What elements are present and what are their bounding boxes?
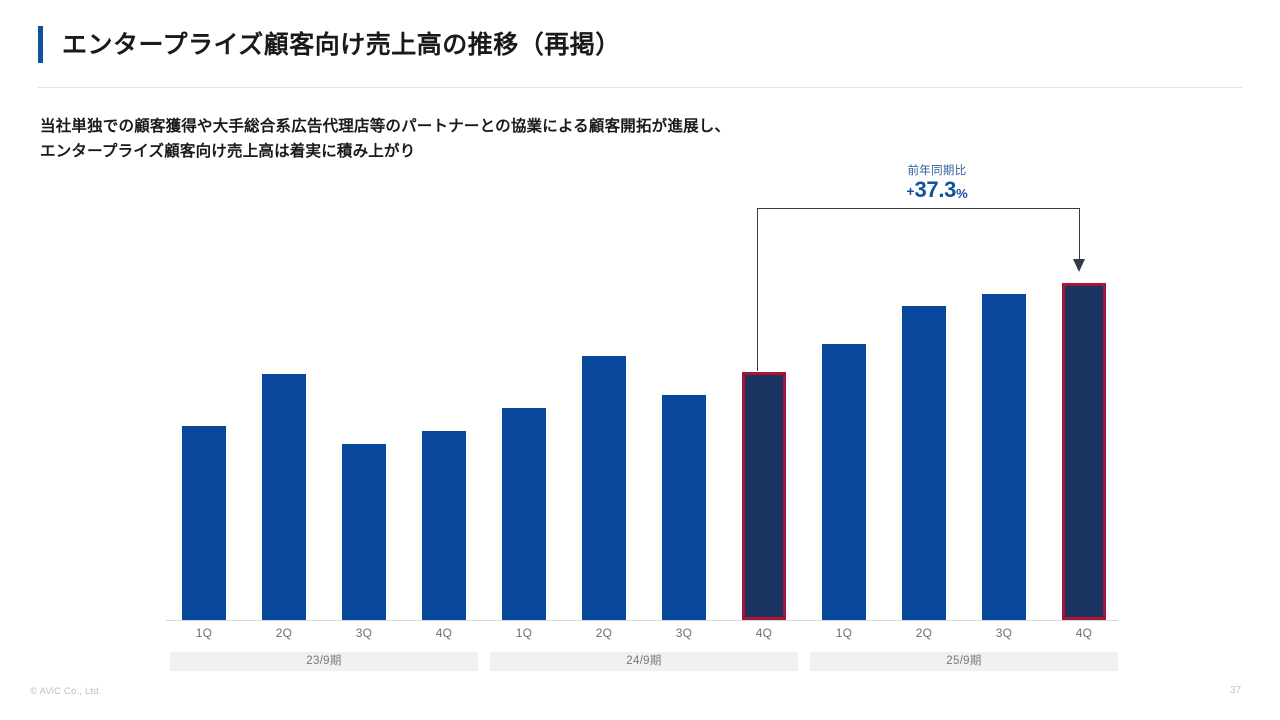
footer-page-number: 37 xyxy=(1230,685,1254,696)
chart-tick-label: 4Q xyxy=(734,626,794,640)
chart-bar xyxy=(582,356,626,620)
chart-bar xyxy=(982,294,1026,620)
chart-tick-label: 2Q xyxy=(574,626,634,640)
chart-baseline-axis xyxy=(166,620,1118,621)
yoy-callout-value: +37.3% xyxy=(862,179,1012,205)
chart-bar xyxy=(502,408,546,620)
connector-right-stem xyxy=(1079,208,1080,261)
chart-bar xyxy=(182,426,226,620)
chart-bar-highlighted xyxy=(742,372,786,620)
footer-copyright: © AViC Co., Ltd. xyxy=(30,686,102,697)
chart-tick-label: 1Q xyxy=(174,626,234,640)
connector-arrowhead-icon xyxy=(1073,259,1085,272)
yoy-callout-unit: % xyxy=(956,186,968,201)
chart-bar xyxy=(342,444,386,620)
chart-tick-label: 2Q xyxy=(254,626,314,640)
chart-tick-label: 3Q xyxy=(654,626,714,640)
chart-tick-label: 1Q xyxy=(494,626,554,640)
chart-tick-label: 3Q xyxy=(974,626,1034,640)
chart-period-band: 24/9期 xyxy=(490,652,798,671)
bar-chart: 1Q2Q3Q4Q1Q2Q3Q4Q1Q2Q3Q4Q 23/9期24/9期25/9期 xyxy=(0,0,1280,720)
yoy-growth-callout: 前年同期比 +37.3% xyxy=(862,164,1012,205)
chart-bar xyxy=(822,344,866,620)
chart-tick-label: 2Q xyxy=(894,626,954,640)
chart-tick-label: 4Q xyxy=(1054,626,1114,640)
yoy-callout-sign: + xyxy=(906,183,914,199)
chart-bar xyxy=(422,431,466,620)
chart-bar xyxy=(902,306,946,620)
chart-bar xyxy=(262,374,306,620)
chart-period-band: 25/9期 xyxy=(810,652,1118,671)
yoy-callout-number: 37.3 xyxy=(915,177,957,202)
chart-tick-label: 1Q xyxy=(814,626,874,640)
chart-bar xyxy=(662,395,706,620)
chart-tick-label: 3Q xyxy=(334,626,394,640)
chart-period-band: 23/9期 xyxy=(170,652,478,671)
connector-horizontal xyxy=(757,208,1080,209)
chart-bar-highlighted xyxy=(1062,283,1106,620)
connector-left-stem xyxy=(757,208,758,371)
chart-tick-label: 4Q xyxy=(414,626,474,640)
